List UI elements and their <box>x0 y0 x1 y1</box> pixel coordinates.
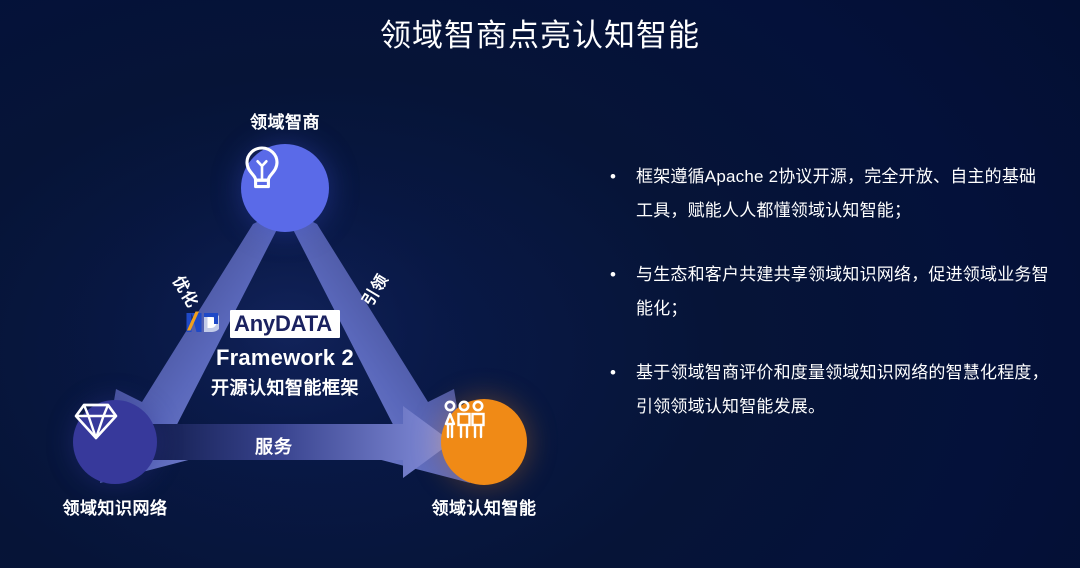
edge-label-serve: 服务 <box>255 433 293 459</box>
node-label-domain-iq: 领域智商 <box>241 108 329 133</box>
bullet-marker: • <box>610 356 636 390</box>
bullet-text: 基于领域智商评价和度量领域知识网络的智慧化程度，引领领域认知智能发展。 <box>636 356 1050 424</box>
list-item: • 与生态和客户共建共享领域知识网络，促进领域业务智能化； <box>610 258 1050 326</box>
list-item: • 基于领域智商评价和度量领域知识网络的智慧化程度，引领领域认知智能发展。 <box>610 356 1050 424</box>
slide-canvas: 领域智商点亮认知智能 <box>0 0 1080 568</box>
brand-name: AnyDATA <box>234 312 332 336</box>
bullet-list: • 框架遵循Apache 2协议开源，完全开放、自主的基础工具，赋能人人都懂领域… <box>610 160 1050 454</box>
node-cognitive-intelligence[interactable] <box>441 399 527 485</box>
bullet-marker: • <box>610 258 636 292</box>
center-logo: AnyDATA Framework 2 开源认知智能框架 <box>185 310 385 400</box>
people-icon <box>441 399 487 443</box>
lightbulb-icon <box>241 144 283 190</box>
triangle-diagram: 领域智商 领域知识网络 领域认知智能 优化 引领 <box>0 78 600 548</box>
node-label-knowledge-network: 领域知识网络 <box>15 494 215 519</box>
node-knowledge-network[interactable] <box>73 400 157 484</box>
bullet-text: 框架遵循Apache 2协议开源，完全开放、自主的基础工具，赋能人人都懂领域认知… <box>636 160 1050 228</box>
node-label-cognitive-intelligence: 领域认知智能 <box>384 494 584 519</box>
anydata-logo-icon <box>185 310 219 334</box>
node-domain-iq[interactable] <box>241 144 329 232</box>
list-item: • 框架遵循Apache 2协议开源，完全开放、自主的基础工具，赋能人人都懂领域… <box>610 160 1050 228</box>
bullet-marker: • <box>610 160 636 194</box>
diamond-icon <box>73 400 119 442</box>
product-subtitle: 开源认知智能框架 <box>185 374 385 400</box>
product-name: Framework 2 <box>185 345 385 371</box>
brand-lockup: AnyDATA <box>230 310 340 338</box>
bullet-text: 与生态和客户共建共享领域知识网络，促进领域业务智能化； <box>636 258 1050 326</box>
page-title: 领域智商点亮认知智能 <box>0 14 1080 58</box>
